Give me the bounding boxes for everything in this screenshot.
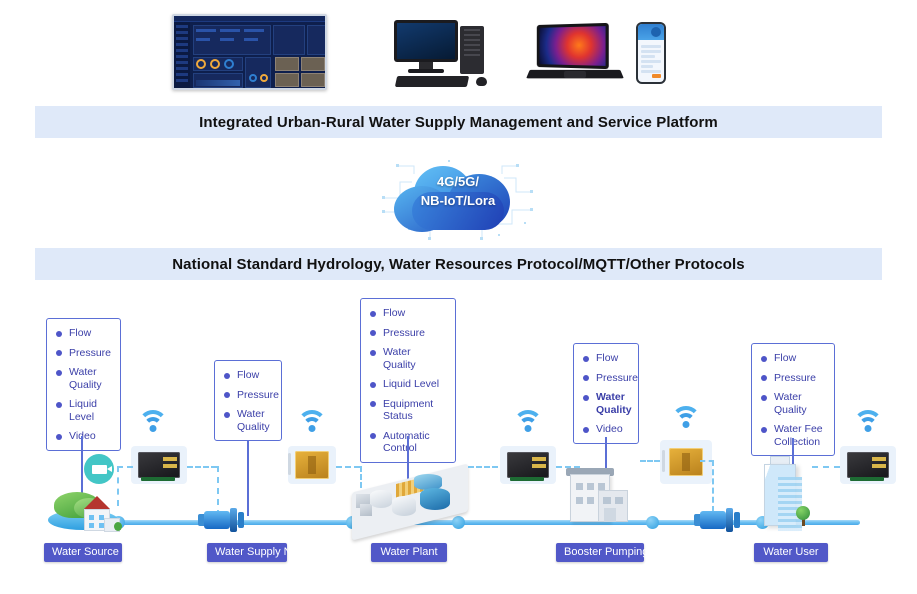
- info-item: Water Quality: [583, 391, 629, 416]
- device-showcase-row: [0, 4, 917, 100]
- rtu-device-water-supply-network: [288, 446, 336, 484]
- dashed-connector: [812, 466, 840, 468]
- info-item: Flow: [370, 307, 446, 320]
- node-label-booster-pumping-station: Booster Pumping Station: [556, 543, 644, 562]
- node-label-water-source: Water Source: [44, 543, 122, 562]
- rtu-black-icon: [507, 452, 549, 478]
- info-list-water-source: Flow Pressure Water Quality Liquid Level…: [56, 327, 111, 443]
- connector-stem: [247, 440, 249, 516]
- scada-dashboard-screen: [172, 14, 327, 90]
- valve-icon: [198, 507, 246, 533]
- info-item: Pressure: [224, 389, 272, 402]
- info-box-water-source: Flow Pressure Water Quality Liquid Level…: [46, 318, 121, 451]
- dashed-connector: [117, 466, 133, 468]
- rtu-gold-icon: [295, 451, 329, 479]
- dashed-connector: [712, 460, 714, 512]
- dashed-connector: [468, 466, 498, 468]
- info-item: Water Quality: [224, 408, 272, 433]
- info-item: Pressure: [370, 327, 446, 340]
- cloud-label-line2: NB-IoT/Lora: [378, 191, 538, 210]
- booster-station-icon: [560, 464, 640, 532]
- protocol-banner-text: National Standard Hydrology, Water Resou…: [172, 256, 744, 273]
- info-list-booster-pumping-station: Flow Pressure Water Quality Video: [583, 352, 629, 436]
- rtu-black-icon: [138, 452, 180, 478]
- desktop-computer: [392, 18, 502, 90]
- dashed-connector: [640, 460, 660, 462]
- info-item: Pressure: [583, 372, 629, 385]
- info-item: Video: [583, 423, 629, 436]
- rtu-device-booster-pumping-station: [660, 440, 712, 484]
- node-label-water-user: Water User: [754, 543, 828, 562]
- valve-icon: [694, 507, 742, 533]
- info-item: Flow: [583, 352, 629, 365]
- info-item: Pressure: [761, 372, 825, 385]
- dashed-connector: [187, 466, 217, 468]
- camera-icon: [84, 454, 114, 484]
- info-list-water-user: Flow Pressure Water Quality Water Fee Co…: [761, 352, 825, 448]
- wifi-icon: [670, 404, 702, 428]
- connector-stem: [81, 436, 83, 496]
- info-box-booster-pumping-station: Flow Pressure Water Quality Video: [573, 343, 639, 444]
- info-item: Water Quality: [761, 391, 825, 416]
- rtu-device-water-source: [131, 446, 187, 484]
- info-item: Water Quality: [370, 346, 446, 371]
- network-cloud: 4G/5G/ NB-IoT/Lora: [378, 152, 538, 244]
- wifi-icon: [852, 408, 884, 432]
- info-item: Flow: [224, 369, 272, 382]
- rtu-device-water-user: [840, 446, 896, 484]
- info-item: Flow: [761, 352, 825, 365]
- laptop-computer: [528, 24, 624, 88]
- cloud-label: 4G/5G/ NB-IoT/Lora: [378, 172, 538, 210]
- protocol-banner: National Standard Hydrology, Water Resou…: [35, 248, 882, 280]
- info-box-water-supply-network: Flow Pressure Water Quality: [214, 360, 282, 441]
- pipeline-node-dot: [646, 516, 659, 529]
- info-item: Liquid Level: [56, 398, 111, 423]
- node-label-water-plant: Water Plant: [371, 543, 447, 562]
- info-list-water-plant: Flow Pressure Water Quality Liquid Level…: [370, 307, 446, 455]
- info-item: Liquid Level: [370, 378, 446, 391]
- wifi-icon: [137, 408, 169, 432]
- water-plant-icon: [352, 464, 468, 530]
- info-item: Pressure: [56, 347, 111, 360]
- info-item: Video: [56, 430, 111, 443]
- rtu-gold-icon: [669, 448, 703, 476]
- smartphone-app: [636, 22, 666, 84]
- wifi-icon: [296, 408, 328, 432]
- dashed-connector: [117, 466, 119, 506]
- dashed-connector: [700, 460, 714, 462]
- info-list-water-supply-network: Flow Pressure Water Quality: [224, 369, 272, 433]
- wifi-icon: [512, 408, 544, 432]
- rtu-black-icon: [847, 452, 889, 478]
- water-supply-chain-diagram: Flow Pressure Water Quality Liquid Level…: [0, 288, 917, 594]
- info-item: Flow: [56, 327, 111, 340]
- platform-banner: Integrated Urban-Rural Water Supply Mana…: [35, 106, 882, 138]
- office-building-icon: [756, 456, 812, 532]
- info-item: Water Quality: [56, 366, 111, 391]
- rtu-device-water-plant: [500, 446, 556, 484]
- platform-banner-text: Integrated Urban-Rural Water Supply Mana…: [199, 114, 718, 131]
- node-label-water-supply-network: Water Supply Network: [207, 543, 287, 562]
- cloud-label-line1: 4G/5G/: [378, 172, 538, 191]
- info-item: Equipment Status: [370, 398, 446, 423]
- pump-house-icon: [80, 496, 120, 532]
